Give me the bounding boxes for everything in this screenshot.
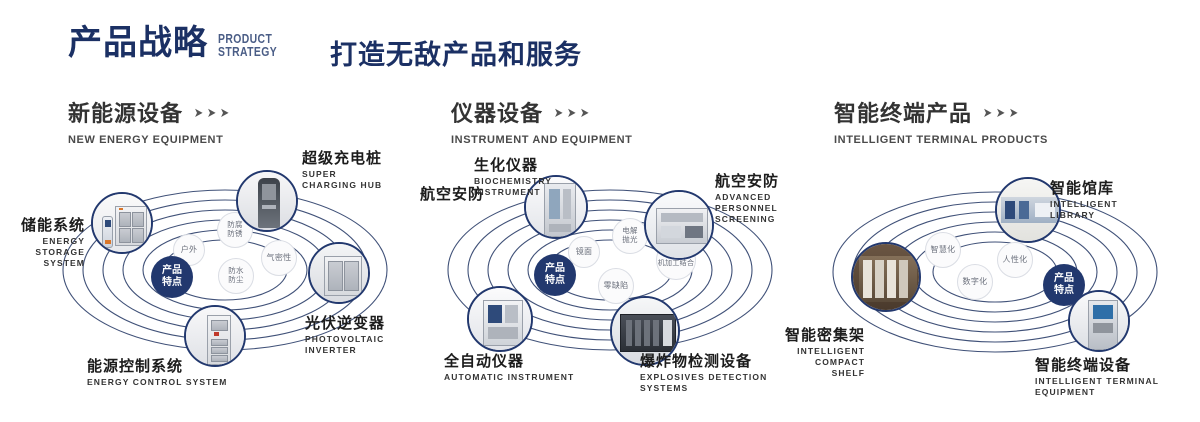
node-photo-intelligent-compact-shelf[interactable] (851, 242, 921, 312)
node-label-en: ENERGY CONTROL SYSTEM (87, 377, 227, 388)
section-title-cn: 智能终端产品 (834, 96, 972, 128)
core-bubble-product-features: 产品特点 (534, 254, 576, 296)
feature-tag: 数字化 (957, 264, 993, 300)
page-subtitle: 打造无敌产品和服务 (330, 33, 582, 72)
chevron-right-icon: ➤➤➤ (982, 106, 1019, 119)
node-label-super-charging-hub: 超级充电桩 SUPER CHARGING HUB (302, 150, 395, 191)
node-photo-super-charging-hub[interactable] (236, 170, 298, 232)
section-title-en: INTELLIGENT TERMINAL PRODUCTS (834, 134, 1048, 146)
node-label-energy-storage-system: 储能系统 ENERGY STORAGESYSTEM (0, 217, 85, 268)
feature-tag: 防水防尘 (218, 258, 254, 294)
node-label-cn: 储能系统 (0, 217, 85, 234)
node-label-en: PHOTOVOLTAIC INVERTER (305, 334, 395, 355)
section-title-cn: 仪器设备 (451, 96, 543, 128)
page-header: 产品战略 PRODUCT STRATEGY (68, 26, 292, 60)
node-photo-energy-storage-system[interactable] (91, 192, 153, 254)
feature-tag: 人性化 (997, 242, 1033, 278)
page-title: 产品战略 (68, 26, 208, 60)
node-label-intelligent-terminal-equipment: 智能终端设备 INTELLIGENT TERMINAL EQUIPMENT (1035, 357, 1165, 398)
node-label-intelligent-compact-shelf: 智能密集架 INTELLIGENT COMPACTSHELF (755, 327, 865, 378)
page-title-english: PRODUCT STRATEGY (218, 32, 277, 58)
section-title-instrument: 仪器设备 ➤➤➤ INSTRUMENT AND EQUIPMENT (451, 96, 632, 146)
feature-tag: 气密性 (261, 240, 297, 276)
section-title-en: INSTRUMENT AND EQUIPMENT (451, 134, 632, 146)
node-label-en: INTELLIGENT TERMINAL EQUIPMENT (1035, 376, 1165, 397)
node-label-cn: 航空安防 (398, 186, 484, 203)
node-label-biochemistry-instrument: 生化仪器 BIOCHEMISTRYINSTRUMENT (474, 157, 552, 198)
node-photo-automatic-instrument[interactable] (467, 286, 533, 352)
section-title-new-energy: 新能源设备 ➤➤➤ NEW ENERGY EQUIPMENT (68, 96, 230, 146)
node-label-en: AUTOMATIC INSTRUMENT (444, 372, 574, 383)
core-line2: 特点 (162, 277, 182, 288)
chevron-right-icon: ➤➤➤ (553, 106, 590, 119)
cluster-instrument: 镜面 电解抛光 钣金与机加工结合 零缺陷 产品特点 (440, 170, 780, 370)
node-label-cn: 全自动仪器 (444, 353, 574, 370)
node-label-cn: 超级充电桩 (302, 150, 395, 167)
node-photo-intelligent-terminal-equipment[interactable] (1068, 290, 1130, 352)
node-label-cn: 生化仪器 (474, 157, 552, 174)
node-label-en: INTELLIGENT COMPACTSHELF (755, 346, 865, 378)
section-title-en: NEW ENERGY EQUIPMENT (68, 134, 230, 146)
node-label-automatic-instrument: 全自动仪器 AUTOMATIC INSTRUMENT (444, 353, 574, 383)
node-label-cn: 智能终端设备 (1035, 357, 1165, 374)
core-line1: 产品 (545, 263, 565, 274)
node-label-cn: 光伏逆变器 (305, 315, 395, 332)
node-label-cn: 智能馆库 (1050, 180, 1165, 197)
node-label-advanced-personnel-screening: 航空安防 ADVANCED PERSONNELSCREENING (715, 173, 780, 224)
node-label-cn: 智能密集架 (755, 327, 865, 344)
node-label-en: BIOCHEMISTRYINSTRUMENT (474, 176, 552, 197)
node-label-aviation-security-left: 航空安防 (398, 186, 484, 203)
section-title-cn: 新能源设备 (68, 96, 183, 128)
core-line1: 产品 (162, 265, 182, 276)
cluster-intelligent-terminal: 智慧化 数字化 人性化 产品特点 (825, 172, 1165, 372)
core-bubble-product-features: 产品特点 (151, 256, 193, 298)
feature-tag: 智慧化 (925, 232, 961, 268)
node-label-cn: 航空安防 (715, 173, 780, 190)
cluster-new-energy: 户外 防腐防锈 防水防尘 气密性 产品特点 (55, 170, 395, 370)
node-label-en: ADVANCED PERSONNELSCREENING (715, 192, 780, 224)
core-line1: 产品 (1054, 273, 1074, 284)
node-label-en: SUPER CHARGING HUB (302, 169, 395, 190)
node-label-en: ENERGY STORAGESYSTEM (0, 236, 85, 268)
node-label-en: INTELLIGENT LIBRARY (1050, 199, 1165, 220)
node-photo-advanced-personnel-screening[interactable] (644, 190, 714, 260)
feature-tag: 电解抛光 (612, 218, 648, 254)
section-title-intelligent-terminal: 智能终端产品 ➤➤➤ INTELLIGENT TERMINAL PRODUCTS (834, 96, 1048, 146)
node-label-intelligent-library: 智能馆库 INTELLIGENT LIBRARY (1050, 180, 1165, 221)
page-title-english-line2: STRATEGY (218, 45, 277, 58)
core-line2: 特点 (545, 275, 565, 286)
product-strategy-infographic: 产品战略 PRODUCT STRATEGY 打造无敌产品和服务 新能源设备 ➤➤… (0, 0, 1200, 422)
node-label-photovoltaic-inverter: 光伏逆变器 PHOTOVOLTAIC INVERTER (305, 315, 395, 356)
node-label-cn: 能源控制系统 (87, 358, 227, 375)
chevron-right-icon: ➤➤➤ (193, 106, 230, 119)
node-photo-photovoltaic-inverter[interactable] (308, 242, 370, 304)
node-label-energy-control-system: 能源控制系统 ENERGY CONTROL SYSTEM (87, 358, 227, 388)
